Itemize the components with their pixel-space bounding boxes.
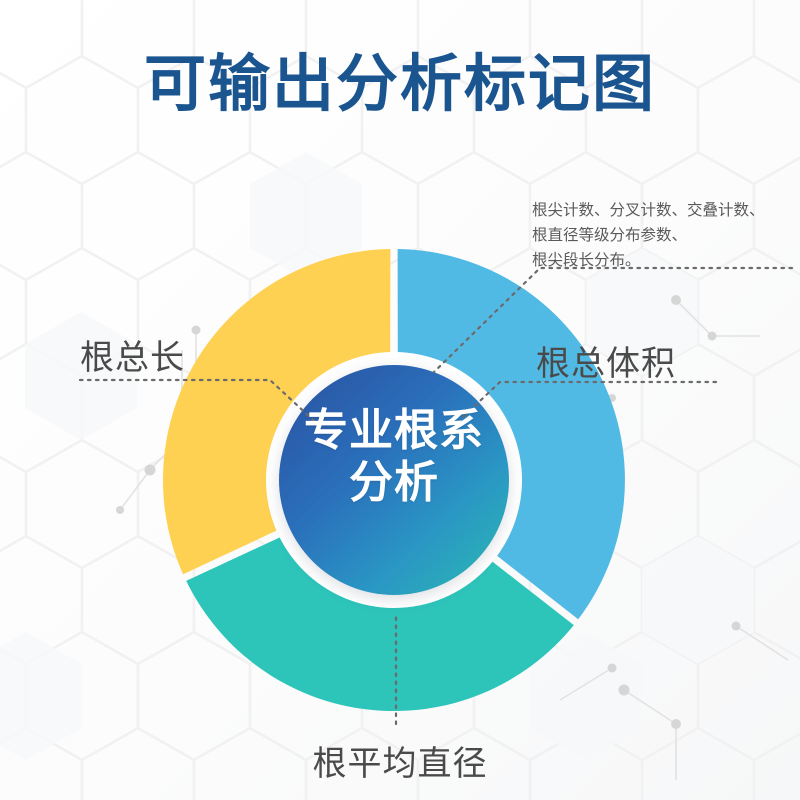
- slice-label-total-volume[interactable]: 根总体积: [536, 336, 676, 385]
- annotation-line-1: 根尖计数、分叉计数、交叠计数、: [532, 198, 765, 223]
- root-analysis-donut-chart: [0, 0, 800, 800]
- center-line-1: 专业根系: [304, 406, 484, 455]
- center-line-2: 分析: [274, 457, 514, 509]
- slice-label-avg-diameter[interactable]: 根平均直径: [0, 736, 800, 785]
- annotation-block: 根尖计数、分叉计数、交叠计数、 根直径等级分布参数、 根尖段长分布。: [532, 198, 765, 273]
- annotation-line-2: 根直径等级分布参数、: [532, 223, 765, 248]
- slice-label-total-length[interactable]: 根总长: [80, 330, 185, 379]
- infographic-stage: 可输出分析标记图: [0, 0, 800, 800]
- center-core-label: 专业根系 分析: [274, 405, 514, 509]
- annotation-line-3: 根尖段长分布。: [532, 248, 765, 273]
- page-title: 可输出分析标记图: [0, 52, 800, 117]
